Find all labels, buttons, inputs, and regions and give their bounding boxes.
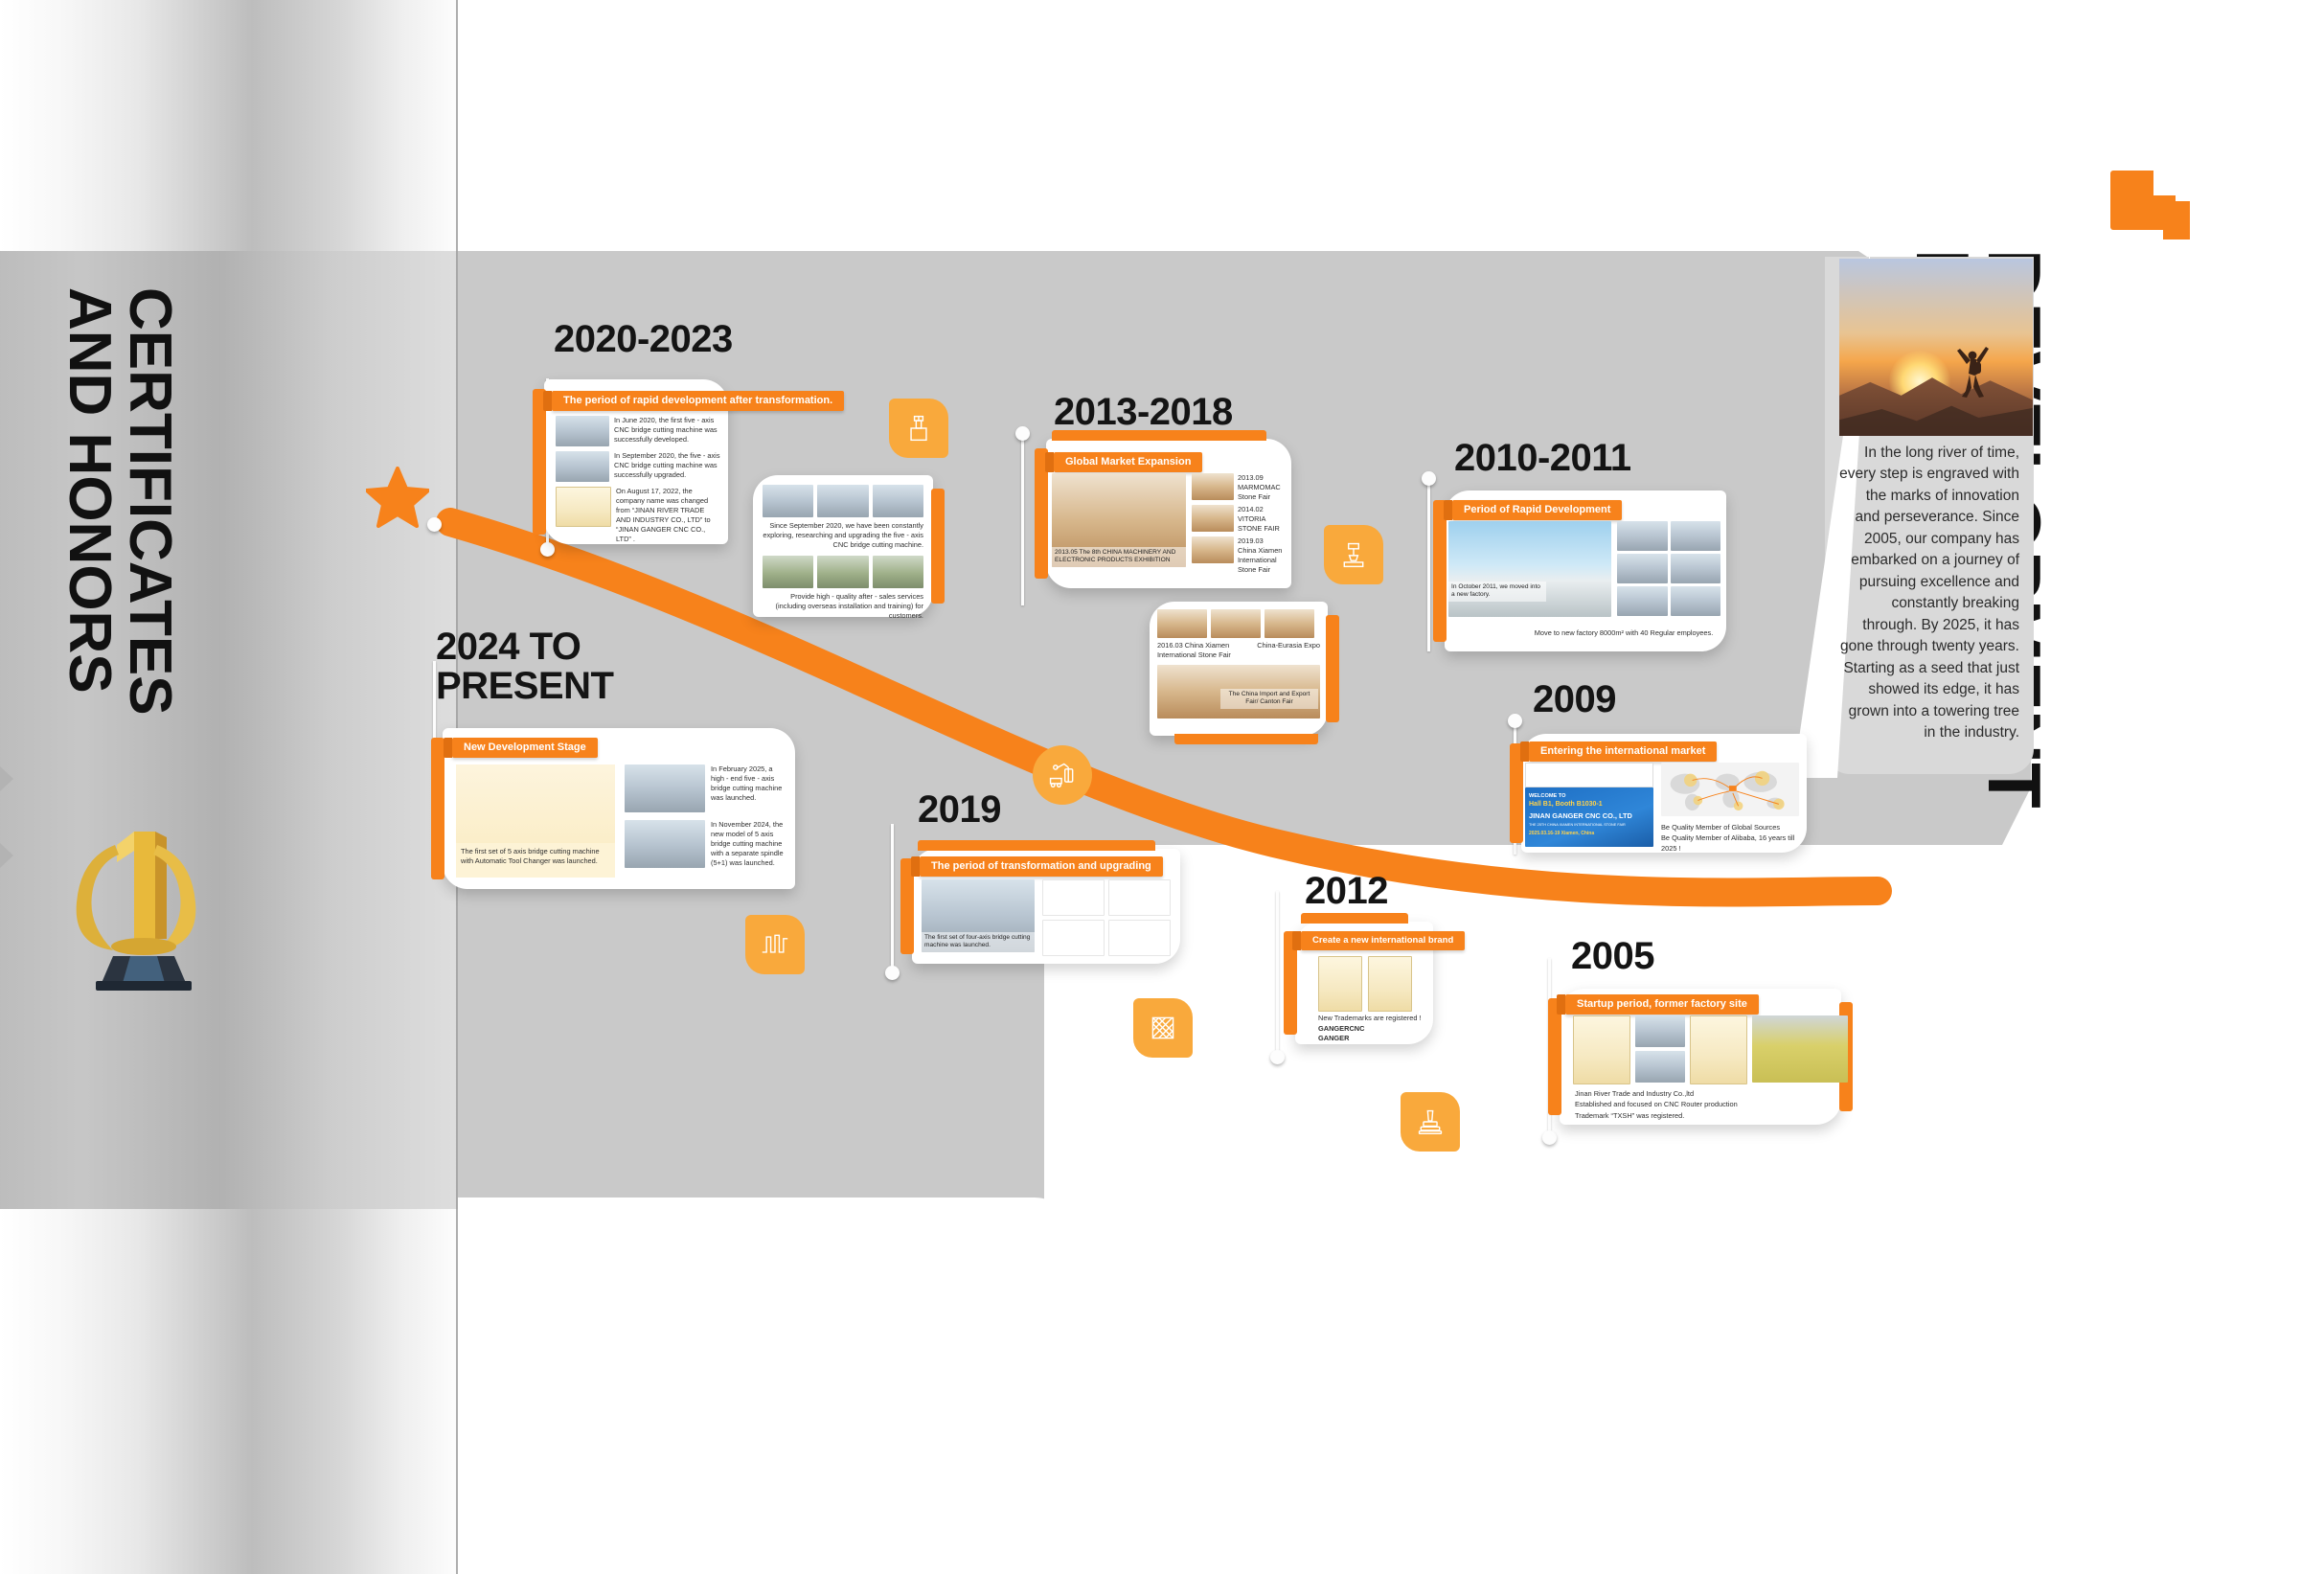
banner-line-4: 2025.03.16-19 Xiamen, China [1529, 831, 1594, 836]
item-text-0: In February 2025, a high - end five - ax… [711, 764, 786, 812]
card-accent-right [931, 489, 945, 604]
tag-2005: Startup period, former factory site [1565, 994, 1759, 1015]
photo-fair-2 [1192, 505, 1234, 532]
photo-machines-2 [1671, 586, 1721, 616]
caption-top: Since September 2020, we have been const… [763, 521, 923, 550]
photo-old-workshop [1635, 1015, 1685, 1047]
infographic-canvas: CERTIFICATES AND HONORS DEVELOPMENT HIST… [0, 0, 2324, 1574]
fair-text-2: 2019.03 China Xiamen International Stone… [1238, 536, 1284, 575]
dot-2024 [427, 517, 442, 532]
photo-5axis-machine [456, 764, 615, 843]
year-2010-2011: 2010-2011 [1454, 439, 1631, 478]
year-2024-present: 2024 TO PRESENT [436, 627, 637, 706]
card-2020-2023[interactable]: The period of rapid development after tr… [544, 379, 728, 544]
drawing-front-view [1042, 879, 1105, 916]
photo-caption-2010: In October 2011, we moved into a new fac… [1448, 582, 1546, 602]
photo-cnc-router [1635, 1051, 1685, 1083]
photo-exhibition-main: 2013.05 The 8th CHINA MACHINERY AND ELEC… [1052, 473, 1186, 567]
photo-workshop-1 [1617, 521, 1668, 551]
spindle-icon [904, 414, 933, 443]
photo-business-license [1573, 1015, 1630, 1084]
card-accent-right [1326, 615, 1339, 722]
certificates-title-line1: CERTIFICATES [117, 287, 183, 716]
photo-alibaba-banner: WELCOME TO Hall B1, Booth B1030-1 JINAN … [1525, 763, 1653, 847]
photo-trademark-2 [1368, 956, 1412, 1012]
year-2013-2018: 2013-2018 [1054, 393, 1233, 432]
item-text-2: Trademark “TXSH” was registered. [1575, 1111, 1684, 1120]
stem-2013-2018 [1021, 433, 1024, 605]
photo-machine-1 [556, 416, 609, 446]
photo-team-1 [763, 556, 813, 588]
robot-arm-icon [1047, 760, 1078, 790]
photo-fair-3 [1192, 536, 1234, 563]
tag-2019: The period of transformation and upgradi… [920, 856, 1163, 877]
banner-line-3: THE 25TH CHINA XIAMEN INTERNATIONAL STON… [1529, 823, 1626, 827]
photo-certificate-2005 [1690, 1015, 1747, 1084]
photo-former-factory [1752, 1015, 1848, 1083]
badge-waveform [745, 915, 805, 974]
photo-expo-hall [1211, 609, 1261, 638]
dot-2020-2023 [540, 542, 555, 557]
photo-shop-2 [817, 485, 868, 517]
item-text-2: On August 17, 2022, the company name was… [616, 487, 720, 544]
photo-workshop-2 [1671, 521, 1721, 551]
year-2009: 2009 [1533, 680, 1616, 719]
card-2005[interactable]: Startup period, former factory site Jina… [1560, 989, 1841, 1125]
card-2020-2023-extra[interactable]: Since September 2020, we have been const… [753, 475, 933, 617]
card-accent-left [1433, 500, 1447, 642]
card-2010-2011[interactable]: Period of Rapid Development In October 2… [1445, 490, 1726, 651]
tag-2012: Create a new international brand [1301, 931, 1465, 950]
photo-certificate [556, 487, 611, 527]
drawing-top-view [1042, 920, 1105, 956]
footer-2010-2011: Move to new factory 8000m² with 40 Regul… [1531, 628, 1717, 638]
photo-caption-2024: The first set of 5 axis bridge cutting m… [456, 843, 615, 870]
dot-2005 [1542, 1130, 1557, 1145]
fair-row-1: 2014.02 VITORIA STONE FAIR [1192, 505, 1284, 534]
tag-2010-2011: Period of Rapid Development [1452, 500, 1622, 520]
photo-machines-1 [1617, 586, 1668, 616]
row-item-1: In September 2020, the five - axis CNC b… [556, 451, 720, 482]
drawing-side-view [1108, 879, 1171, 916]
photo-caption-exhibition: 2013.05 The 8th CHINA MACHINERY AND ELEC… [1052, 547, 1186, 567]
card-accent-left [431, 738, 444, 879]
photo-4axis-machine: The first set of four-axis bridge cuttin… [922, 879, 1035, 952]
stem-2019 [891, 824, 894, 977]
certificates-title-line2: AND HONORS [57, 287, 123, 694]
badge-stamp [1401, 1092, 1460, 1152]
year-2005: 2005 [1571, 937, 1654, 976]
item-text-1: GANGERCNC [1318, 1024, 1364, 1033]
item-text-1: In September 2020, the five - axis CNC b… [614, 451, 720, 482]
photo-row-fairs [1157, 609, 1320, 638]
certificates-panel-title: CERTIFICATES AND HONORS [59, 287, 180, 716]
card-2012[interactable]: Create a new international brand New Tra… [1295, 922, 1433, 1044]
fair-row-0: 2013.09 MARMOMAC Stone Fair [1192, 473, 1284, 502]
photo-trademark-1 [1318, 956, 1362, 1012]
logo-tail-shape [2163, 201, 2190, 240]
card-2013-2018[interactable]: Global Market Expansion 2013.05 The 8th … [1046, 439, 1291, 588]
card-2013-2018-extra[interactable]: 2016.03 China Xiamen International Stone… [1150, 602, 1328, 736]
star-icon [366, 467, 429, 528]
item-text-0: In June 2020, the first five - axis CNC … [614, 416, 720, 446]
photo-team-3 [873, 556, 923, 588]
tag-2009: Entering the international market [1529, 741, 1717, 762]
logo-notch-shape [2153, 171, 2176, 195]
card-accent-left [1548, 998, 1561, 1115]
year-2019: 2019 [918, 790, 1001, 830]
item-text-1: Established and focused on CNC Router pr… [1575, 1100, 1738, 1108]
tag-2013-2018: Global Market Expansion [1054, 452, 1202, 472]
card-accent-bottom [1174, 734, 1318, 744]
photo-eurasia-expo [1265, 609, 1314, 638]
stem-2012 [1276, 891, 1279, 1059]
year-2012: 2012 [1305, 872, 1388, 911]
mesh-grid-icon [1149, 1014, 1177, 1042]
card-accent-top [1301, 913, 1408, 924]
hiker-silhouette-icon [1956, 343, 1989, 399]
row-item-0: In June 2020, the first five - axis CNC … [556, 416, 720, 446]
photo-caption-2019: The first set of four-axis bridge cuttin… [922, 932, 1035, 952]
trophy-icon [59, 803, 213, 994]
item-text-0: New Trademarks are registered ! [1318, 1014, 1422, 1022]
dot-2012 [1270, 1050, 1285, 1064]
intro-paragraph: In the long river of time, every step is… [1839, 443, 2019, 744]
caption-bottom: Provide high - quality after - sales ser… [763, 592, 923, 621]
hero-photo [1839, 259, 2033, 436]
world-map-icon [1661, 763, 1799, 816]
dot-2013-2018 [1015, 426, 1030, 441]
badge-spindle [889, 399, 948, 458]
machine-tool-icon [1339, 540, 1368, 569]
dot-2009 [1508, 714, 1522, 728]
banner-line-2: JINAN GANGER CNC CO., LTD [1529, 811, 1632, 820]
dot-2010-2011 [1422, 471, 1436, 486]
stamp-icon [1416, 1107, 1445, 1136]
fair-text-1: 2014.02 VITORIA STONE FAIR [1238, 505, 1284, 534]
row-item-1: In November 2024, the new model of 5 axi… [625, 820, 786, 868]
photo-yard-1 [1671, 554, 1721, 583]
card-2024-present[interactable]: New Development Stage The first set of 5… [443, 728, 795, 889]
tag-2020-2023: The period of rapid development after tr… [552, 391, 844, 411]
caption-left: 2016.03 China Xiamen International Stone… [1157, 641, 1248, 660]
item-text-2: GANGER [1318, 1034, 1349, 1042]
photo-xiamen-fair [1157, 609, 1207, 638]
photo-row-top [763, 485, 923, 517]
badge-robot-arm [1033, 745, 1092, 805]
badge-mesh-grid [1133, 998, 1193, 1058]
item-text-1: In November 2024, the new model of 5 axi… [711, 820, 786, 868]
world-map-graphic [1661, 763, 1799, 816]
card-accent-top [1052, 430, 1266, 441]
photo-machine-nov2024 [625, 820, 705, 868]
caption-right: China-Eurasia Expo [1255, 641, 1320, 660]
photo-machine-feb2025 [625, 764, 705, 812]
fair-text-0: 2013.09 MARMOMAC Stone Fair [1238, 473, 1284, 502]
photo-loading-1 [1617, 554, 1668, 583]
waveform-icon [761, 930, 789, 959]
photo-canton-fair: The China Import and Export Fair/ Canton… [1157, 665, 1320, 719]
stem-2010-2011 [1427, 479, 1430, 651]
photo-shop-3 [873, 485, 923, 517]
caption-canton-fair: The China Import and Export Fair/ Canton… [1220, 689, 1318, 709]
banner-line-1: Hall B1, Booth B1030-1 [1529, 801, 1603, 808]
item-text-0: Be Quality Member of Global Sources [1661, 823, 1780, 832]
badge-machine-tool [1324, 525, 1383, 584]
row-item-2: On August 17, 2022, the company name was… [556, 487, 720, 544]
fair-row-2: 2019.03 China Xiamen International Stone… [1192, 536, 1284, 575]
photo-team-2 [817, 556, 868, 588]
row-item-0: In February 2025, a high - end five - ax… [625, 764, 786, 812]
card-accent-top [918, 840, 1155, 851]
photo-shop-1 [763, 485, 813, 517]
tag-2024-present: New Development Stage [452, 738, 598, 758]
item-text-0: Jinan River Trade and Industry Co.,ltd [1575, 1089, 1694, 1098]
item-text-1: Be Quality Member of Alibaba, 16 years t… [1661, 833, 1794, 853]
drawing-iso-view [1108, 920, 1171, 956]
photo-new-factory: In October 2011, we moved into a new fac… [1448, 521, 1611, 617]
photo-machine-2 [556, 451, 609, 482]
year-2020-2023: 2020-2023 [554, 320, 733, 359]
photo-fair-1 [1192, 473, 1234, 500]
dot-2019 [885, 966, 900, 980]
card-2009[interactable]: Entering the international market WELCOM… [1521, 734, 1807, 853]
banner-line-0: WELCOME TO [1529, 793, 1565, 799]
card-2019[interactable]: The period of transformation and upgradi… [912, 849, 1180, 964]
photo-row-bottom [763, 556, 923, 588]
